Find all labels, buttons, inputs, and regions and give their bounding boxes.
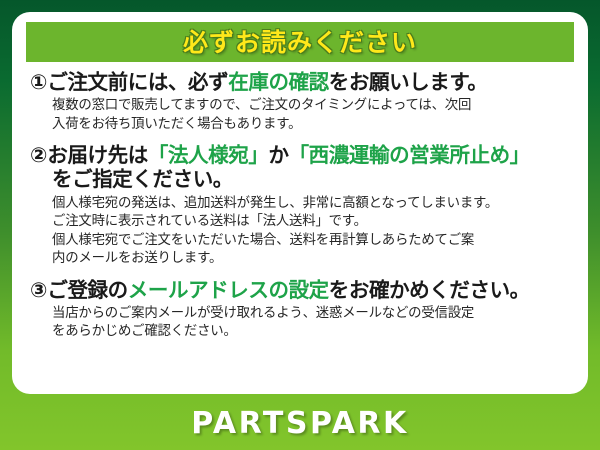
notice-card: 必ずお読みください ①ご注文前には、必ず在庫の確認をお願いします。 複数の窓口で… xyxy=(12,12,588,394)
notice-item-1-description-line-1: 複数の窓口で販売してますので、ご注文のタイミングによっては、次回 xyxy=(52,97,572,116)
brand-footer: PARTSPARK xyxy=(0,396,600,450)
notice-item-1-heading: ①ご注文前には、必ず在庫の確認をお願いします。 xyxy=(30,70,572,94)
notice-item-2-text-between: か xyxy=(268,143,288,167)
notice-item-2: ②お届け先は「法人様宛」か「西濃運輸の営業所止め」 をご指定ください。 個人様宅… xyxy=(30,143,572,268)
notice-item-2-heading: ②お届け先は「法人様宛」か「西濃運輸の営業所止め」 をご指定ください。 xyxy=(30,143,572,191)
notice-item-3-number: ③ xyxy=(30,278,47,302)
notice-item-3-heading: ③ご登録のメールアドレスの設定をお確かめください。 xyxy=(30,278,572,302)
notice-item-1: ①ご注文前には、必ず在庫の確認をお願いします。 複数の窓口で販売してますので、ご… xyxy=(30,70,572,134)
notice-item-1-description: 複数の窓口で販売してますので、ご注文のタイミングによっては、次回 入荷をお待ち頂… xyxy=(30,97,572,134)
notice-item-1-number: ① xyxy=(30,70,47,94)
notice-item-2-description-line-2: ご注文時に表示されている送料は「法人送料」です。 xyxy=(52,213,572,232)
notice-item-3-description-line-1: 当店からのご案内メールが受け取れるよう、迷惑メールなどの受信設定 xyxy=(52,305,572,324)
notice-banner: 必ずお読みください ①ご注文前には、必ず在庫の確認をお願いします。 複数の窓口で… xyxy=(0,0,600,450)
notice-item-2-highlight-corporate: 「法人様宛」 xyxy=(148,143,269,167)
notice-item-2-description-line-4: 内のメールをお送りします。 xyxy=(52,250,572,269)
notice-item-3-description-line-2: をあらかじめご確認ください。 xyxy=(52,323,572,342)
notice-item-1-text-before: ご注文前には、必ず xyxy=(47,70,228,94)
notice-item-2-number: ② xyxy=(30,143,47,167)
notice-item-3-text-before: ご登録の xyxy=(47,278,127,302)
brand-name: PARTSPARK xyxy=(191,406,409,441)
notice-item-list: ①ご注文前には、必ず在庫の確認をお願いします。 複数の窓口で販売してますので、ご… xyxy=(26,62,574,342)
notice-item-3-highlight: メールアドレスの設定 xyxy=(128,278,329,302)
notice-item-2-text-before: お届け先は xyxy=(47,143,148,167)
notice-item-2-highlight-depot: 「西濃運輸の営業所止め」 xyxy=(289,143,530,167)
notice-header-title: 必ずお読みください xyxy=(183,30,417,55)
notice-item-2-description: 個人様宅宛の発送は、追加送料が発生し、非常に高額となってしまいます。 ご注文時に… xyxy=(30,195,572,269)
notice-header-banner: 必ずお読みください xyxy=(26,22,574,62)
notice-item-2-description-line-3: 個人様宅宛でご注文をいただいた場合、送料を再計算しあらためてご案 xyxy=(52,232,572,251)
notice-item-2-description-line-1: 個人様宅宛の発送は、追加送料が発生し、非常に高額となってしまいます。 xyxy=(52,195,572,214)
notice-item-3-description: 当店からのご案内メールが受け取れるよう、迷惑メールなどの受信設定 をあらかじめご… xyxy=(30,305,572,342)
notice-item-2-heading-line-2: をご指定ください。 xyxy=(30,167,572,191)
notice-item-1-highlight: 在庫の確認 xyxy=(228,70,329,94)
notice-item-1-text-after: をお願いします。 xyxy=(329,70,488,94)
notice-item-3-text-after: をお確かめください。 xyxy=(329,278,530,302)
notice-item-1-description-line-2: 入荷をお待ち頂いただく場合もあります。 xyxy=(52,116,572,135)
notice-item-3: ③ご登録のメールアドレスの設定をお確かめください。 当店からのご案内メールが受け… xyxy=(30,278,572,342)
